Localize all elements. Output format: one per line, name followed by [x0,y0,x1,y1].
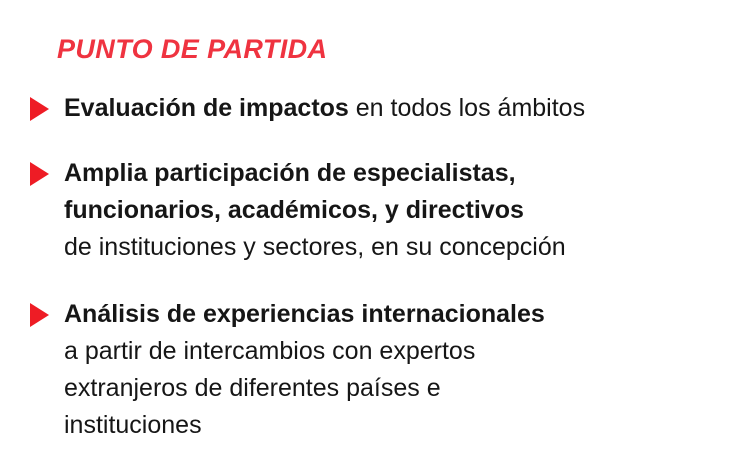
bullet-text-regular: instituciones [64,411,202,439]
page-title: PUNTO DE PARTIDA [57,36,327,63]
bullet-line: funcionarios, académicos, y directivos [64,192,744,229]
bullet-line: instituciones [64,407,744,444]
bullet-text-regular: en todos los ámbitos [349,94,585,122]
bullet-text-regular: extranjeros de diferentes países e [64,374,441,402]
bullet-text-bold: Análisis de experiencias internacionales [64,300,545,328]
bullet-text-bold: Amplia participación de especialistas, [64,159,516,187]
bullet-text-bold: funcionarios, académicos, y directivos [64,196,524,224]
bullet-text-bold: Evaluación de impactos [64,94,349,122]
bullet-line: Análisis de experiencias internacionales [64,296,744,333]
triangle-right-icon [30,162,49,186]
slide-root: PUNTO DE PARTIDA Evaluación de impactos … [0,0,750,469]
bullet-text-regular: a partir de intercambios con expertos [64,337,475,365]
triangle-right-icon [30,303,49,327]
list-item: Amplia participación de especialistas, f… [28,155,744,266]
bullet-list: Evaluación de impactos en todos los ámbi… [28,90,744,444]
bullet-line: de instituciones y sectores, en su conce… [64,229,744,266]
bullet-line: extranjeros de diferentes países e [64,370,744,407]
bullet-line: Amplia participación de especialistas, [64,155,744,192]
triangle-right-icon [30,97,49,121]
bullet-line: Evaluación de impactos en todos los ámbi… [64,90,744,127]
list-item: Evaluación de impactos en todos los ámbi… [28,90,744,127]
bullet-text-regular: de instituciones y sectores, en su conce… [64,233,566,261]
list-item: Análisis de experiencias internacionales… [28,296,744,444]
bullet-line: a partir de intercambios con expertos [64,333,744,370]
